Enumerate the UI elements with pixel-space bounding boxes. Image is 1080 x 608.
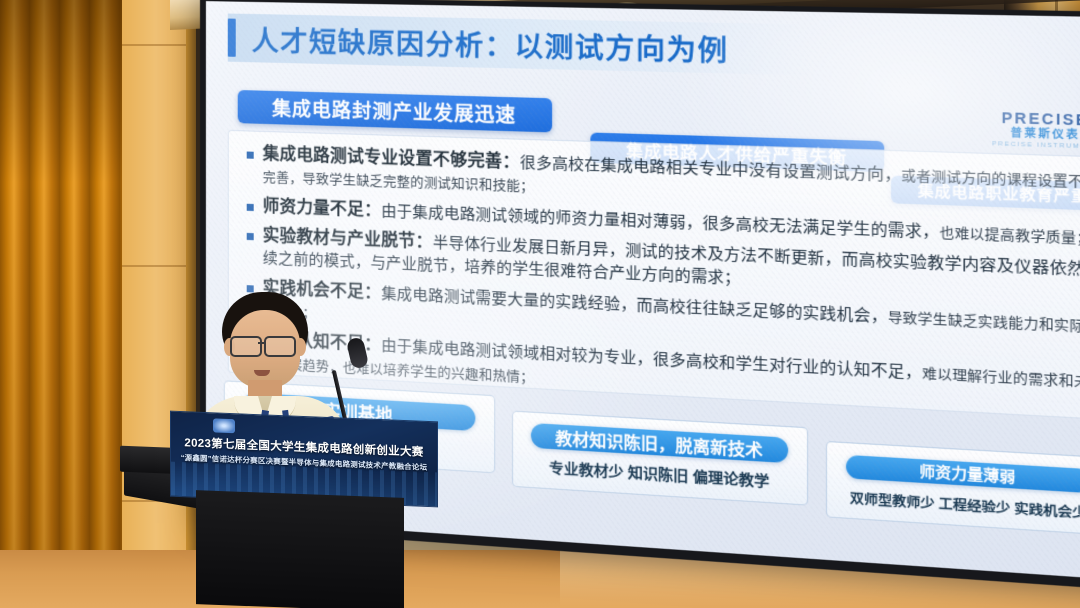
summary-card-3: 师资力量薄弱 双师型教师少 工程经验少 实践机会少: [826, 441, 1080, 536]
glasses-icon: [264, 336, 296, 357]
bullet-lead: 集成电路测试专业设置不够完善：: [263, 145, 520, 172]
summary-card-caption: 教材知识陈旧，脱离新技术: [531, 423, 788, 463]
bullet-square-icon: [247, 203, 254, 210]
slide-title-band: 人才短缺原因分析：以测试方向为例: [228, 14, 817, 76]
slide-title: 人才短缺原因分析：以测试方向为例: [252, 18, 729, 68]
summary-card-2: 教材知识陈旧，脱离新技术 专业教材少 知识陈旧 偏理论教学: [512, 411, 808, 506]
bullet-body: 很多高校在集成电路相关专业中没有设置测试方向，: [520, 154, 901, 184]
bullet-lead: 师资力量不足：: [263, 197, 381, 220]
glasses-bridge: [258, 342, 264, 344]
summary-card-caption: 师资力量薄弱: [846, 454, 1080, 492]
bullet-list: 集成电路测试专业设置不够完善：很多高校在集成电路相关专业中没有设置测试方向，或者…: [247, 141, 1080, 425]
title-accent-bar: [228, 19, 236, 57]
speaker-ear-right: [295, 338, 306, 356]
logo-chinese-name: 普莱斯仪表: [992, 128, 1080, 142]
bullet-square-icon: [247, 285, 254, 292]
logo-wordmark: PRECISE: [992, 110, 1080, 128]
bullet-square-icon: [247, 152, 254, 159]
bullet-lead: 实验教材与产业脱节：: [263, 226, 433, 251]
conference-photo: 人才短缺原因分析：以测试方向为例 集成电路封测产业发展迅速 集成电路人才供给严重…: [0, 0, 1080, 608]
brand-logo: PRECISE 普莱斯仪表 PRECISE INSTRUMENT: [992, 110, 1080, 151]
summary-card-sub: 专业教材少 知识陈旧 偏理论教学: [549, 457, 769, 491]
podium-base: [196, 490, 404, 608]
glasses-icon: [230, 336, 262, 357]
bullet-square-icon: [247, 233, 254, 240]
curtain-shadow: [0, 0, 122, 608]
bullet-tail: 也难以提高教学质量；: [939, 224, 1080, 246]
header-pill-1: 集成电路封测产业发展迅速: [238, 90, 552, 132]
logo-english-tagline: PRECISE INSTRUMENT: [992, 141, 1080, 151]
summary-card-sub: 双师型教师少 工程经验少 实践机会少: [850, 486, 1080, 521]
podium-emblem-icon: [213, 418, 235, 433]
